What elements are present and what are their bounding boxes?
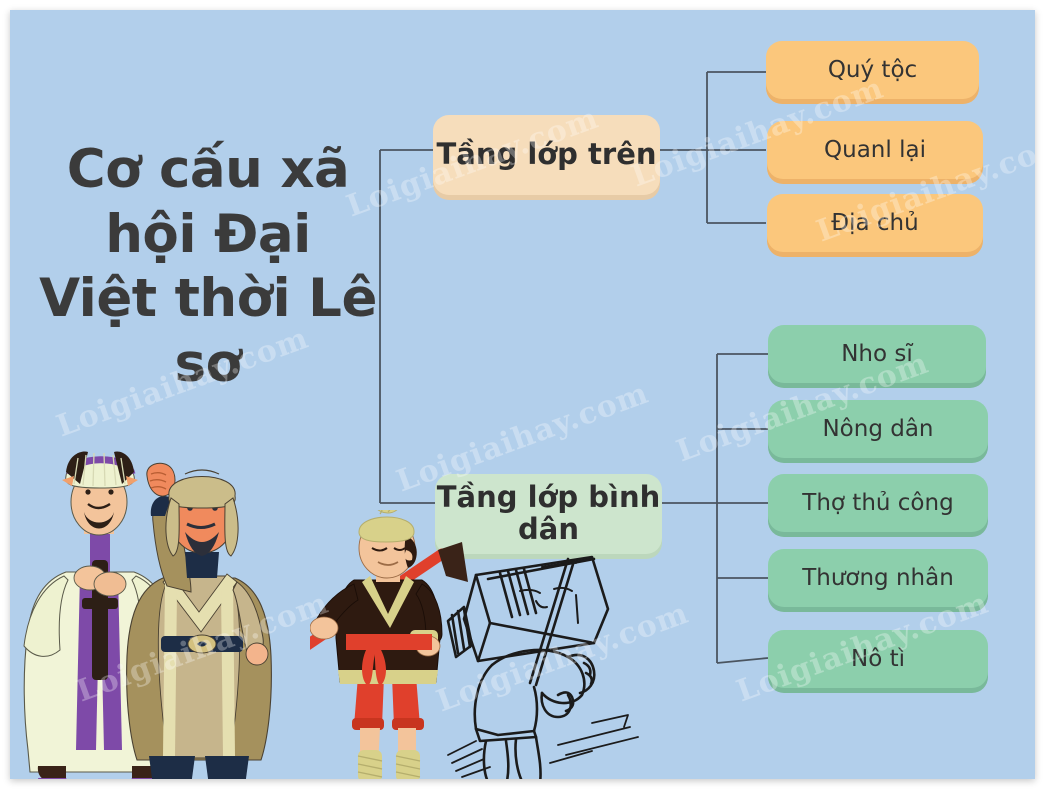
slide-canvas: Loigiaihay.com Loigiaihay.com Loigiaihay… xyxy=(10,10,1035,779)
lower-rib-line-5 xyxy=(717,658,768,663)
leaf-node-dia-chu[interactable]: Địa chủ xyxy=(767,194,983,252)
branch-node-label: Tầng lớp trên xyxy=(433,139,660,171)
leaf-node-quan-lai[interactable]: Quanl lại xyxy=(767,121,983,179)
leaf-node-label: Địa chủ xyxy=(767,210,983,236)
leaf-node-label: Thợ thủ công xyxy=(768,490,988,516)
leaf-node-nong-dan[interactable]: Nông dân xyxy=(768,400,988,458)
leaf-node-tho-thu-cong[interactable]: Thợ thủ công xyxy=(768,474,988,532)
leaf-node-label: Nho sĩ xyxy=(768,341,986,367)
leaf-node-label: Nông dân xyxy=(768,416,988,442)
leaf-node-label: Thương nhân xyxy=(768,565,988,591)
leaf-node-label: Quý tộc xyxy=(766,57,979,83)
leaf-node-quy-toc[interactable]: Quý tộc xyxy=(766,41,979,99)
illustration-military-official xyxy=(105,460,305,779)
leaf-node-label: Nô tì xyxy=(768,646,988,672)
leaf-node-no-ti[interactable]: Nô tì xyxy=(768,630,988,688)
leaf-node-label: Quanl lại xyxy=(767,137,983,163)
slide-stage: Loigiaihay.com Loigiaihay.com Loigiaihay… xyxy=(0,0,1045,789)
page-title: Cơ cấu xã hội Đại Việt thời Lê sơ xyxy=(38,138,378,397)
leaf-node-thuong-nhan[interactable]: Thương nhân xyxy=(768,549,988,607)
leaf-node-nho-si[interactable]: Nho sĩ xyxy=(768,325,986,383)
illustration-porter-carrying-load xyxy=(442,545,657,779)
branch-node-tang-lop-tren[interactable]: Tầng lớp trên xyxy=(433,115,660,195)
